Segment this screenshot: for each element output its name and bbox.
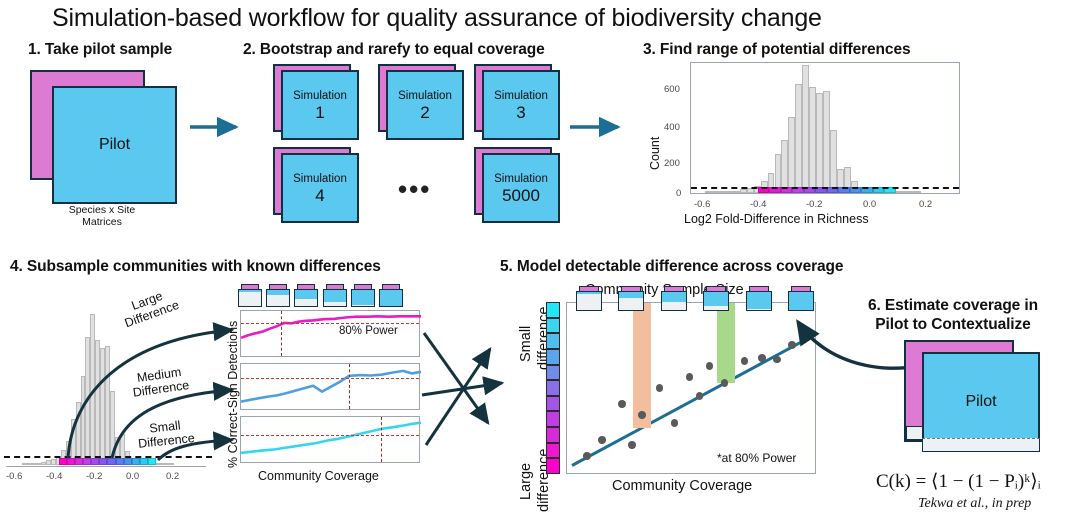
histogram-bar <box>719 191 726 193</box>
simulation-number: 4 <box>315 186 324 205</box>
minicard-coverage-fill <box>619 292 643 298</box>
panel3-ytick-400: 400 <box>664 122 680 133</box>
panel3-ytick-200: 200 <box>664 158 680 169</box>
sim-card-blue: Simulation 4 <box>281 153 359 223</box>
panel-6-header: 6. Estimate coverage in Pilot to Context… <box>848 296 1058 334</box>
panel3-ytick-600: 600 <box>664 84 680 95</box>
ellipsis-indicator: ••• <box>398 174 431 205</box>
colorbar-segment <box>546 396 560 412</box>
highlight-band <box>717 303 735 383</box>
panel5-x-axis-label: Community Coverage <box>612 478 752 494</box>
panel3-y-axis-label: Count <box>648 137 662 170</box>
minicard-body <box>379 289 403 307</box>
matrix-card-blue: Pilot <box>52 86 177 204</box>
minicard-body <box>703 291 729 311</box>
panel4-xtick-4: 0.2 <box>166 471 179 482</box>
scatter-point <box>741 357 749 365</box>
histogram-bar <box>705 191 712 193</box>
cb-bot-line1: Large <box>518 463 534 500</box>
panel4-xtick-1: -0.4 <box>46 471 62 482</box>
panel4-y-axis-label: % Correct-Sign Detections <box>226 321 240 468</box>
colorbar-segment <box>546 365 560 381</box>
minicard-coverage-fill <box>295 290 317 299</box>
simulation-word: Simulation <box>494 89 548 103</box>
power-curve-medium <box>241 364 421 411</box>
caption-line-2: Matrices <box>32 216 172 228</box>
simulation-card-5000: Simulation 5000 <box>474 147 564 225</box>
colorbar-segment <box>546 302 560 318</box>
minicard-body <box>351 289 375 307</box>
histogram-bar <box>726 191 733 193</box>
panel-4-header: 4. Subsample communities with known diff… <box>10 258 381 276</box>
arrow-panel1-to-panel2 <box>190 115 250 139</box>
panel4-x-axis-label: Community Coverage <box>258 469 379 483</box>
histogram-bar <box>823 91 830 193</box>
matrix-card-blue: Pilot <box>922 352 1040 452</box>
sim-card-blue: Simulation 1 <box>281 70 359 140</box>
minicard-coverage-fill <box>662 292 686 302</box>
minicard-coverage-fill <box>239 290 261 292</box>
panel3-ytick-0: 0 <box>676 188 681 199</box>
pilot-matrix-stack: Pilot <box>30 70 190 210</box>
panel-1-caption: Species x Site Matrices <box>32 204 172 228</box>
power-threshold-line <box>241 435 419 436</box>
panel5-colorbar <box>546 302 560 474</box>
simulation-word: Simulation <box>494 172 548 186</box>
minicard-coverage-fill <box>267 290 289 295</box>
panel3-threshold-line <box>691 187 959 189</box>
colorbar-segment <box>546 349 560 365</box>
panel3-xtick-4: 0.2 <box>919 199 932 210</box>
panel4-xtick-2: -0.2 <box>86 471 102 482</box>
simulation-word: Simulation <box>293 172 347 186</box>
minicard-body <box>238 289 262 307</box>
pilot-coverage-band <box>922 438 1040 452</box>
panel6-header-line1: 6. Estimate coverage in <box>848 296 1058 315</box>
scatter-point <box>638 411 646 419</box>
histogram-bar <box>795 84 802 193</box>
sim-card-blue: Simulation 5000 <box>482 153 560 223</box>
panel4-xtick-3: 0.0 <box>126 471 139 482</box>
highlight-band <box>633 303 651 428</box>
scatter-point <box>696 392 704 400</box>
pilot-card-label: Pilot <box>965 393 996 411</box>
cb-top-line1: Small <box>518 326 534 362</box>
panel-1-header: 1. Take pilot sample <box>28 41 172 59</box>
colorbar-segment <box>546 443 560 459</box>
panel3-xtick-1: -0.4 <box>750 199 766 210</box>
panel4-power-plot-small <box>240 416 420 463</box>
colorbar-segment <box>546 318 560 334</box>
citation: Tekwa et al., in prep <box>918 496 1031 512</box>
panel4-power-plot-large: 80% Power <box>240 310 420 357</box>
minicard-body <box>294 289 318 307</box>
histogram-bar <box>740 189 747 193</box>
simulation-number: 2 <box>420 103 429 122</box>
panel4-xtick-0: -0.6 <box>6 471 22 482</box>
minicard-coverage-fill <box>704 292 728 306</box>
histogram-bar <box>781 140 788 194</box>
power-crossing-line <box>381 417 382 462</box>
panel6-pilot-matrix-stack: Pilot <box>904 340 1064 460</box>
panel4-coverage-minicards <box>238 284 403 308</box>
histogram-bar <box>900 191 907 193</box>
scatter-point <box>598 436 606 444</box>
colorbar-segment <box>546 427 560 443</box>
panel3-x-axis-label: Log2 Fold-Difference in Richness <box>684 212 869 226</box>
simulation-card-3: Simulation 3 <box>474 64 564 142</box>
sim-card-blue: Simulation 2 <box>386 70 464 140</box>
histogram-bar <box>816 93 823 193</box>
panel3-plot-area <box>690 62 960 194</box>
coverage-formula: C(k) = ⟨1 − (1 − Pᵢ)ᵏ⟩ᵢ <box>876 470 1041 493</box>
arrow-panel2-to-panel3 <box>570 115 632 139</box>
panel3-xtick-3: 0.0 <box>863 199 876 210</box>
simulation-card-1: Simulation 1 <box>273 64 363 142</box>
simulation-number: 1 <box>315 103 324 122</box>
scatter-point <box>706 362 714 370</box>
colorbar-segment <box>546 458 560 474</box>
simulation-word: Simulation <box>398 89 452 103</box>
simulation-card-4: Simulation 4 <box>273 147 363 225</box>
simulation-word: Simulation <box>293 89 347 103</box>
panel-3-header: 3. Find range of potential differences <box>643 41 911 59</box>
minicard-coverage-fill <box>577 292 601 294</box>
panel5-footnote: *at 80% Power <box>717 451 796 465</box>
minicard-body <box>323 289 347 307</box>
caption-line-1: Species x Site <box>32 204 172 216</box>
histogram-bar <box>802 65 809 193</box>
power-crossing-line <box>281 311 282 356</box>
minicard-body <box>661 291 687 311</box>
sim-card-blue: Simulation 3 <box>482 70 560 140</box>
panel4-power-plot-medium <box>240 363 420 410</box>
scatter-point <box>618 400 626 408</box>
panel6-header-line2: Pilot to Contextualize <box>848 315 1058 334</box>
histogram-bar <box>733 191 740 193</box>
scatter-point <box>671 419 679 427</box>
histogram-bar <box>914 191 921 193</box>
minicard-coverage-fill <box>352 290 374 305</box>
pilot-card-label: Pilot <box>99 136 130 154</box>
minicard-coverage-fill <box>324 290 346 302</box>
minicard-coverage-fill <box>380 290 402 307</box>
panel-2-header: 2. Bootstrap and rarefy to equal coverag… <box>243 41 545 59</box>
minicard-body <box>618 291 644 311</box>
power-threshold-line <box>241 323 419 324</box>
panel4-arrow-label-small: Small Difference <box>136 417 195 451</box>
power-threshold-line <box>241 378 419 379</box>
minicard-body <box>576 291 602 311</box>
scatter-point <box>583 452 591 460</box>
power-annotation: 80% Power <box>339 325 398 337</box>
panel3-xtick-0: -0.6 <box>694 199 710 210</box>
scatter-point <box>628 441 636 449</box>
page-title: Simulation-based workflow for quality as… <box>52 4 822 33</box>
arrows-panel4-to-panel5 <box>420 305 510 470</box>
panel5-colorbar-bottom-label: Large <box>518 463 534 500</box>
scatter-point <box>686 373 694 381</box>
histogram-bar <box>712 191 719 193</box>
panel3-xtick-2: -0.2 <box>806 199 822 210</box>
colorbar-segment <box>546 411 560 427</box>
scatter-point <box>656 384 664 392</box>
power-curve-small <box>241 417 421 464</box>
simulation-number: 3 <box>516 103 525 122</box>
histogram-bar <box>788 117 795 193</box>
colorbar-segment <box>546 333 560 349</box>
colorbar-segment <box>546 380 560 396</box>
power-crossing-line <box>349 364 350 409</box>
histogram-bar <box>830 130 837 193</box>
histogram-bar <box>907 191 914 193</box>
minicard-body <box>266 289 290 307</box>
panel5-colorbar-top-label: Small <box>518 326 534 362</box>
panel-5-header: 5. Model detectable difference across co… <box>500 258 843 276</box>
histogram-bar <box>809 87 816 193</box>
simulation-card-2: Simulation 2 <box>378 64 468 142</box>
simulation-number: 5000 <box>502 186 540 205</box>
